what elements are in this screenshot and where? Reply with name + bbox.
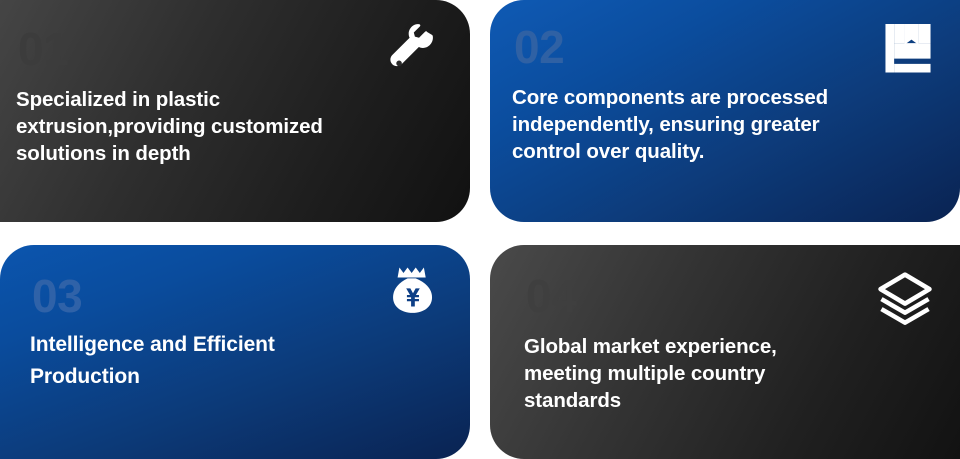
feature-card-04[interactable]: 04 Global market experience, meeting mul… xyxy=(490,245,960,459)
card-title-04: Global market experience, meeting multip… xyxy=(524,333,940,414)
feature-card-grid: 01 Specialized in plastic extrusion,prov… xyxy=(0,0,960,459)
layers-stack-icon xyxy=(876,271,934,329)
card-title-01: Specialized in plastic extrusion,providi… xyxy=(16,86,446,167)
feature-card-03[interactable]: 03 Intelligence and Efficient Production xyxy=(0,245,470,459)
feature-card-02[interactable]: 02 Core components are processed indepen… xyxy=(490,0,960,222)
card-title-03: Intelligence and Efficient Production xyxy=(30,329,450,393)
money-bag-yen-icon xyxy=(384,263,442,321)
wrench-icon xyxy=(386,22,440,76)
feature-card-01[interactable]: 01 Specialized in plastic extrusion,prov… xyxy=(0,0,470,222)
card-number-02: 02 xyxy=(514,24,940,70)
book-bookmark-icon xyxy=(882,22,934,78)
card-title-02: Core components are processed independen… xyxy=(512,84,940,165)
